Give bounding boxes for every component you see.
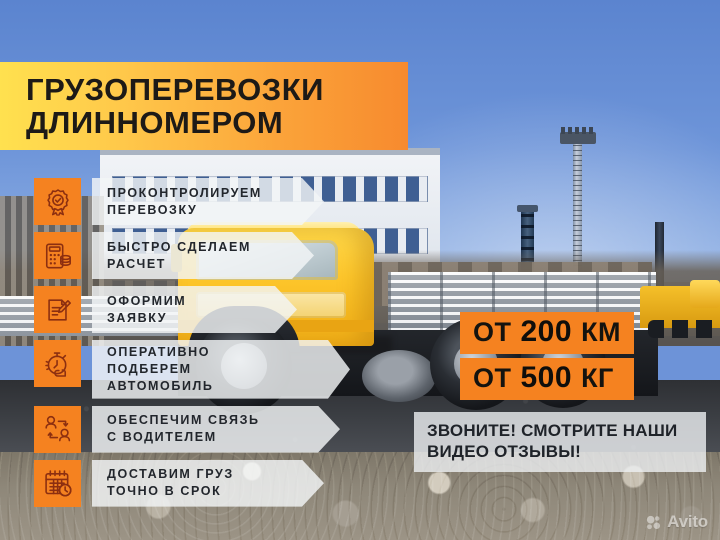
price-prefix: ОТ	[473, 317, 512, 348]
call-to-action-panel: ЗВОНИТЕ! СМОТРИТЕ НАШИ ВИДЕО ОТЗЫВЫ!	[414, 412, 706, 472]
stopwatch-hand-icon	[34, 340, 81, 387]
feature-label: БЫСТРО СДЕЛАЕМ РАСЧЕТ	[107, 239, 251, 273]
feature-label-panel: БЫСТРО СДЕЛАЕМ РАСЧЕТ	[92, 232, 314, 279]
feature-label: ОБЕСПЕЧИМ СВЯЗЬ С ВОДИТЕЛЕМ	[107, 412, 260, 446]
feature-item-on-time-delivery: ДОСТАВИМ ГРУЗ ТОЧНО В СРОК	[34, 460, 350, 507]
award-badge-icon	[34, 178, 81, 225]
avito-watermark: Avito	[645, 512, 708, 532]
feature-label: ПРОКОНТРОЛИРУЕМ ПЕРЕВОЗКУ	[107, 185, 262, 219]
truck-spare-tire	[362, 350, 436, 402]
price-unit: КГ	[581, 363, 614, 394]
price-unit: КМ	[581, 317, 621, 348]
advertisement-banner: ГРУЗОПЕРЕВОЗКИ ДЛИННОМЕРОМ ПРОКОНТРОЛИРУ…	[0, 0, 720, 540]
users-exchange-icon	[34, 406, 81, 453]
vent-stack-cap	[517, 205, 538, 212]
cta-line-2: ВИДЕО ОТЗЫВЫ!	[427, 442, 693, 463]
feature-item-process-request: ОФОРМИМ ЗАЯВКУ	[34, 286, 350, 333]
lighting-mast-lamps	[561, 127, 595, 134]
feature-item-quick-vehicle: ОПЕРАТИВНО ПОДБЕРЕМ АВТОМОБИЛЬ	[34, 340, 350, 399]
background-truck-wheels	[648, 320, 718, 338]
cta-line-1: ЗВОНИТЕ! СМОТРИТЕ НАШИ	[427, 421, 693, 442]
feature-label: ОПЕРАТИВНО ПОДБЕРЕМ АВТОМОБИЛЬ	[107, 344, 214, 395]
avito-watermark-text: Avito	[667, 512, 708, 532]
feature-list: ПРОКОНТРОЛИРУЕМ ПЕРЕВОЗКУ	[34, 178, 350, 507]
calculator-coins-icon	[34, 232, 81, 279]
background-dump-truck-cab	[690, 280, 720, 308]
feature-label-panel: ОФОРМИМ ЗАЯВКУ	[92, 286, 297, 333]
feature-item-driver-contact: ОБЕСПЕЧИМ СВЯЗЬ С ВОДИТЕЛЕМ	[34, 406, 350, 453]
feature-item-control-shipment: ПРОКОНТРОЛИРУЕМ ПЕРЕВОЗКУ	[34, 178, 350, 225]
feature-label-panel: ДОСТАВИМ ГРУЗ ТОЧНО В СРОК	[92, 460, 324, 507]
headline-line-1: ГРУЗОПЕРЕВОЗКИ	[26, 73, 408, 106]
feature-item-fast-calculation: БЫСТРО СДЕЛАЕМ РАСЧЕТ	[34, 232, 350, 279]
feature-label-panel: ОПЕРАТИВНО ПОДБЕРЕМ АВТОМОБИЛЬ	[92, 340, 350, 399]
price-badge-group: ОТ 200 КМ ОТ 500 КГ	[460, 312, 634, 400]
price-value: 500	[521, 361, 573, 395]
feature-label: ОФОРМИМ ЗАЯВКУ	[107, 293, 186, 327]
feature-label-panel: ПРОКОНТРОЛИРУЕМ ПЕРЕВОЗКУ	[92, 178, 324, 225]
headline-line-2: ДЛИННОМЕРОМ	[26, 106, 408, 139]
price-badge-weight: ОТ 500 КГ	[460, 358, 634, 400]
headline-banner: ГРУЗОПЕРЕВОЗКИ ДЛИННОМЕРОМ	[0, 62, 408, 150]
price-prefix: ОТ	[473, 363, 512, 394]
avito-dots-logo-icon	[645, 514, 662, 531]
feature-label: ДОСТАВИМ ГРУЗ ТОЧНО В СРОК	[107, 466, 234, 500]
price-badge-distance: ОТ 200 КМ	[460, 312, 634, 354]
feature-label-panel: ОБЕСПЕЧИМ СВЯЗЬ С ВОДИТЕЛЕМ	[92, 406, 340, 453]
document-pen-icon	[34, 286, 81, 333]
calendar-clock-icon	[34, 460, 81, 507]
price-value: 200	[521, 315, 573, 349]
